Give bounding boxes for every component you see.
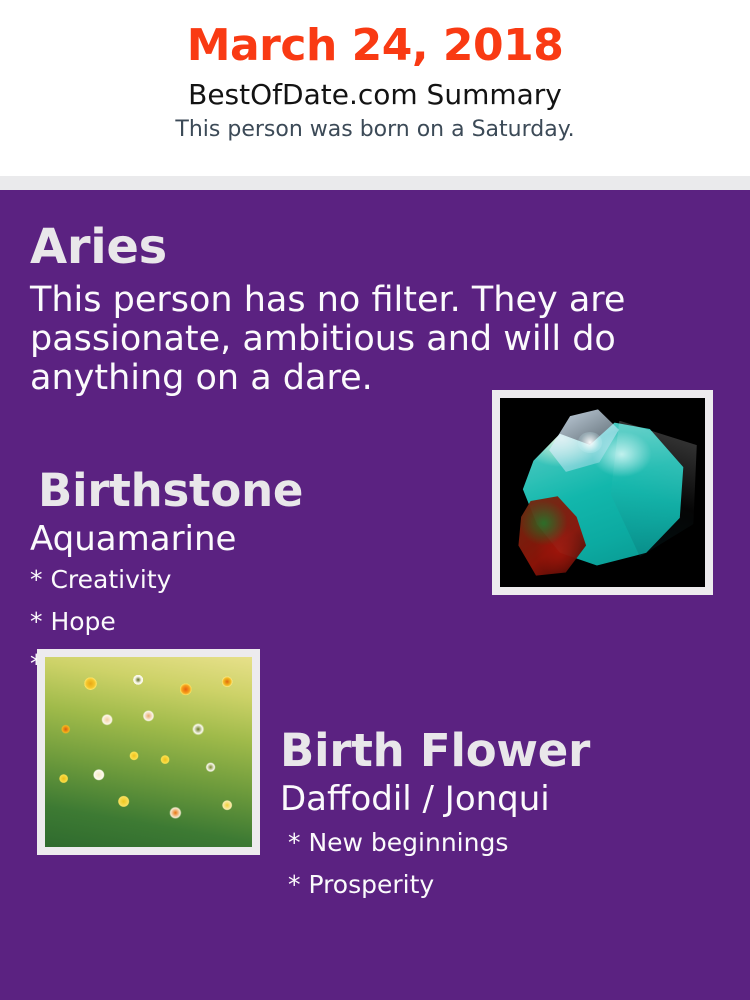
page-title-date: March 24, 2018 xyxy=(0,22,750,70)
list-item: * Creativity xyxy=(30,567,480,592)
birthstone-heading: Birthstone xyxy=(30,468,480,513)
birth-flower-trait-list: * New beginnings * Prosperity xyxy=(280,830,740,897)
list-item: * Hope xyxy=(30,609,480,634)
birth-flower-name: Daffodil / Jonqui xyxy=(280,782,740,818)
birth-flower-photo xyxy=(37,649,260,855)
zodiac-description: This person has no filter. They are pass… xyxy=(30,281,650,399)
zodiac-sign-name: Aries xyxy=(30,223,720,271)
birthstone-text-block: Birthstone Aquamarine * Creativity * Hop… xyxy=(30,468,480,676)
summary-panel: Aries This person has no filter. They ar… xyxy=(0,190,750,1000)
list-item: * Prosperity xyxy=(288,872,740,897)
birthstone-photo-inner xyxy=(500,398,705,587)
header-divider xyxy=(0,176,750,190)
birth-flower-photo-inner xyxy=(45,657,252,847)
list-item: * New beginnings xyxy=(288,830,740,855)
birthstone-name: Aquamarine xyxy=(30,522,480,558)
born-day-note: This person was born on a Saturday. xyxy=(0,116,750,144)
site-summary-label: BestOfDate.com Summary xyxy=(0,77,750,112)
birthstone-photo xyxy=(492,390,713,595)
zodiac-block: Aries This person has no filter. They ar… xyxy=(0,190,750,399)
page-header: March 24, 2018 BestOfDate.com Summary Th… xyxy=(0,0,750,176)
crystal-highlight xyxy=(578,432,603,453)
birth-flower-section: Birth Flower Daffodil / Jonqui * New beg… xyxy=(280,728,740,897)
birth-flower-heading: Birth Flower xyxy=(280,728,740,773)
